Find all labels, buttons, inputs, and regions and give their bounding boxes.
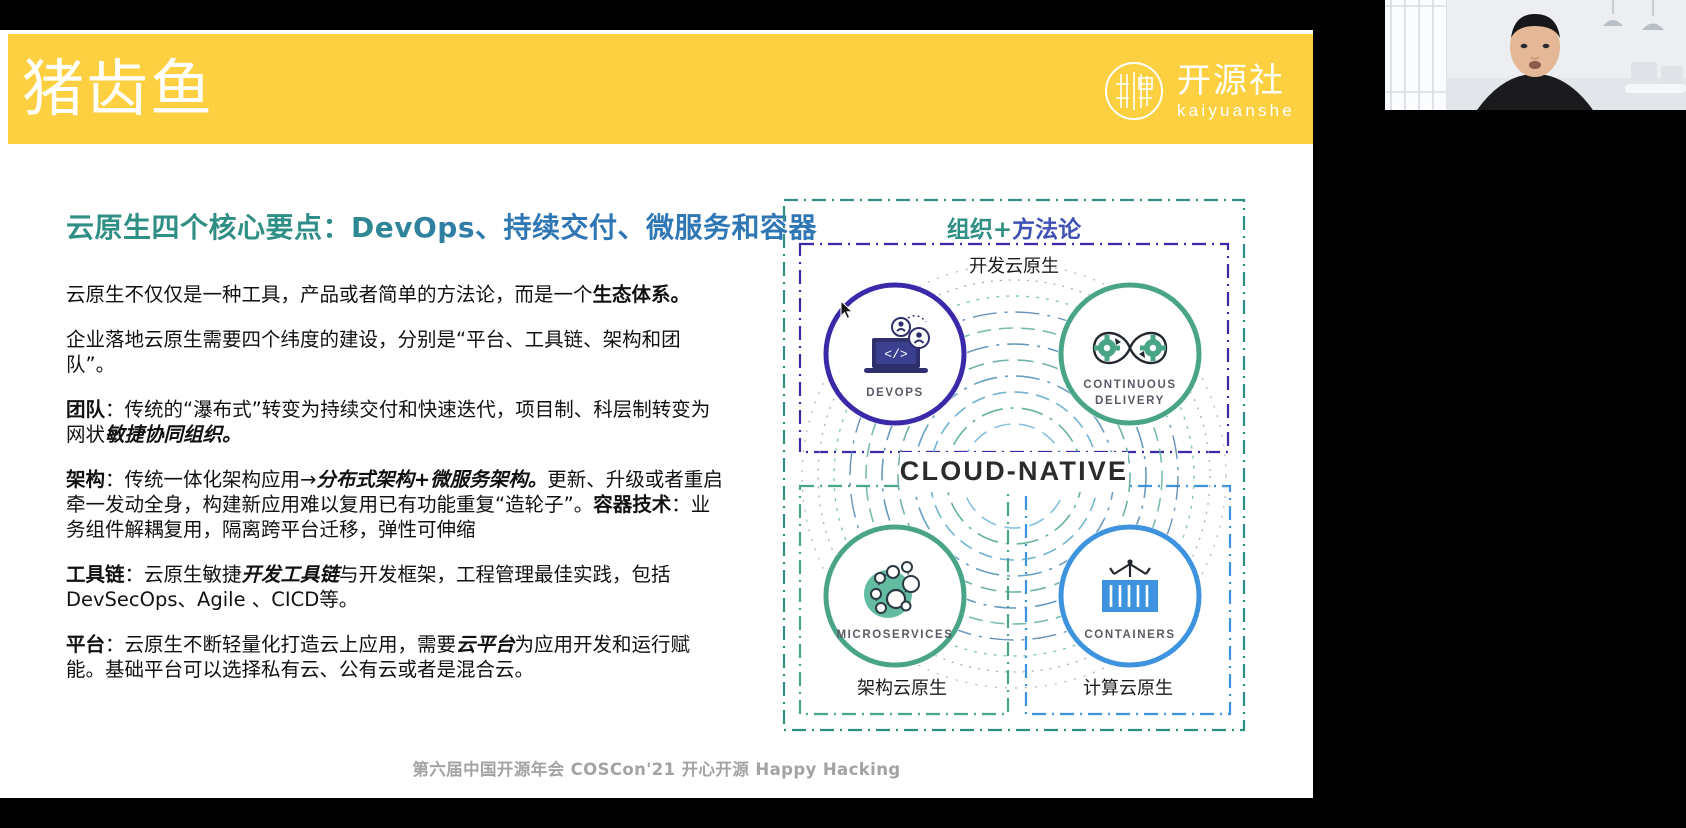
- slide-banner: 猪齿鱼 开源社 kaiyuanshe: [8, 34, 1313, 144]
- mouse-cursor-icon: [840, 300, 854, 320]
- run-text-bold: 生态体系。: [593, 283, 691, 306]
- webcam-frame: [1385, 0, 1686, 110]
- diagram-center-label: CLOUD-NATIVE: [780, 456, 1248, 487]
- cloud-native-diagram: </> DEVOPS: [780, 196, 1248, 734]
- kaiyuanshe-circle-emblem-icon: [1103, 60, 1165, 122]
- paragraph-5: 工具链：云原生敏捷开发工具链与开发框架，工程管理最佳实践，包括DevSecOps…: [66, 562, 726, 612]
- diagram-bottom-right-label: 计算云原生: [1028, 674, 1228, 700]
- run-text-bold-italic: 敏捷协同组织。: [105, 423, 242, 446]
- presenter-video-feed[interactable]: [1385, 0, 1686, 110]
- bubble-label-continuous: CONTINUOUS: [1083, 379, 1176, 391]
- bubble-label-containers: CONTAINERS: [1084, 629, 1175, 641]
- diagram-title-plus: +: [993, 217, 1012, 243]
- run-text-bold: 容器技术: [593, 493, 671, 516]
- run-text-bold: 平台: [66, 633, 105, 656]
- slide-canvas: 猪齿鱼 开源社 kaiyuanshe 云原生四个核心要点：DevOps、持续交付: [0, 30, 1313, 798]
- run-text: ：传统一体化架构应用→: [105, 468, 316, 491]
- paragraph-4: 架构：传统一体化架构应用→分布式架构+微服务架构。更新、升级或者重启牵一发动全身…: [66, 467, 726, 542]
- run-text: 企业落地云原生需要四个纬度的建设，分别是“平台、工具链、架构和团队”。: [66, 328, 681, 376]
- paragraph-6: 平台：云原生不断轻量化打造云上应用，需要云平台为应用开发和运行赋能。基础平台可以…: [66, 632, 726, 682]
- run-text: 云原生不仅仅是一种工具，产品或者简单的方法论，而是一个: [66, 283, 593, 306]
- bubble-label-microservices: MICROSERVICES: [836, 629, 953, 641]
- bubble-label-devops: DEVOPS: [866, 387, 924, 399]
- bubble-label-delivery: DELIVERY: [1095, 395, 1165, 407]
- bubble-containers[interactable]: CONTAINERS: [1061, 527, 1199, 665]
- page-title: 猪齿鱼: [22, 56, 214, 122]
- run-text-bold-italic: 分布式架构+微服务架构。: [316, 468, 547, 491]
- slide-footer: 第六届中国开源年会 COSCon'21 开心开源 Happy Hacking: [0, 756, 1313, 780]
- paragraph-2: 企业落地云原生需要四个纬度的建设，分别是“平台、工具链、架构和团队”。: [66, 327, 726, 377]
- screen-root: 猪齿鱼 开源社 kaiyuanshe 云原生四个核心要点：DevOps、持续交付: [0, 0, 1686, 828]
- bubble-continuous-delivery[interactable]: CONTINUOUS DELIVERY: [1061, 285, 1199, 423]
- run-text-bold: 架构: [66, 468, 105, 491]
- run-text: ：云原生不断轻量化打造云上应用，需要: [105, 633, 456, 656]
- slide-heading: 云原生四个核心要点：DevOps、持续交付、微服务和容器: [66, 206, 817, 246]
- diagram-title: 组织+方法论: [780, 210, 1248, 244]
- logo-wordmark: 开源社 kaiyuanshe: [1177, 64, 1295, 119]
- run-text-bold-italic: 开发工具链: [242, 563, 340, 586]
- diagram-bottom-left-label: 架构云原生: [802, 674, 1002, 700]
- slide-body-text: 云原生不仅仅是一种工具，产品或者简单的方法论，而是一个生态体系。 企业落地云原生…: [66, 282, 726, 682]
- kaiyuanshe-logo: 开源社 kaiyuanshe: [1103, 60, 1295, 122]
- diagram-title-part2: 方法论: [1012, 217, 1081, 243]
- run-text-bold-italic: 云平台: [456, 633, 515, 656]
- run-text-bold: 团队: [66, 398, 105, 421]
- logo-latin-text: kaiyuanshe: [1177, 102, 1295, 119]
- svg-text:</>: </>: [884, 347, 908, 362]
- logo-chinese-text: 开源社: [1177, 64, 1285, 98]
- run-text-bold: 工具链: [66, 563, 125, 586]
- diagram-title-part1: 组织: [947, 217, 993, 243]
- diagram-subtitle: 开发云原生: [780, 252, 1248, 278]
- bubble-microservices[interactable]: MICROSERVICES: [826, 527, 964, 665]
- paragraph-3: 团队：传统的“瀑布式”转变为持续交付和快速迭代，项目制、科层制转变为网状敏捷协同…: [66, 397, 726, 447]
- run-text: ：云原生敏捷: [125, 563, 242, 586]
- paragraph-1: 云原生不仅仅是一种工具，产品或者简单的方法论，而是一个生态体系。: [66, 282, 726, 307]
